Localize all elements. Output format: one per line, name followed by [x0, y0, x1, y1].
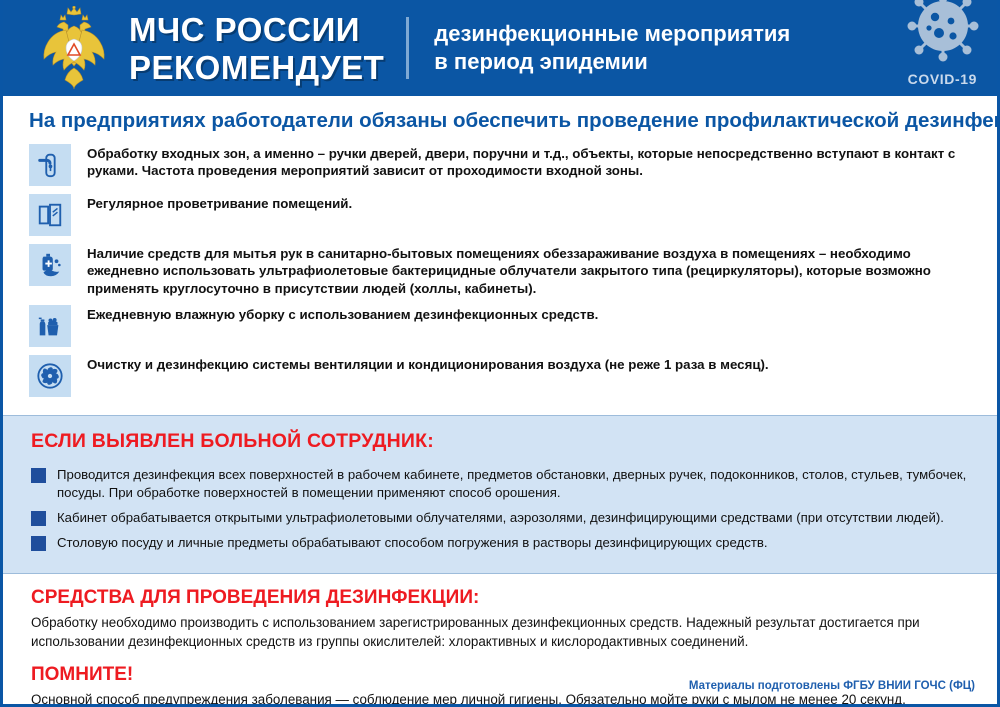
header-subtitle: дезинфекционные мероприятия в период эпи…: [434, 20, 790, 76]
soap-dispenser-hands-icon: [29, 244, 71, 286]
poster-header: МЧС РОССИИ РЕКОМЕНДУЕТ дезинфекционные м…: [3, 0, 997, 96]
list-item: Проводится дезинфекция всех поверхностей…: [31, 466, 975, 502]
section-remember-body: Основной способ предупреждения заболеван…: [31, 690, 973, 707]
brand-line-2: РЕКОМЕНДУЕТ: [129, 51, 384, 84]
section-prevention-title: На предприятиях работодатели обязаны обе…: [29, 110, 975, 133]
section-sick-employee-title: ЕСЛИ ВЫЯВЛЕН БОЛЬНОЙ СОТРУДНИК:: [31, 430, 975, 453]
list-item-text: Регулярное проветривание помещений.: [87, 194, 352, 213]
list-item: Столовую посуду и личные предметы обраба…: [31, 534, 975, 552]
spray-bottle-bucket-icon: [29, 305, 71, 347]
list-item-text: Проводится дезинфекция всех поверхностей…: [57, 466, 975, 502]
open-window-icon: [29, 194, 71, 236]
square-bullet-icon: [31, 511, 46, 526]
section-means: СРЕДСТВА ДЛЯ ПРОВЕДЕНИЯ ДЕЗИНФЕКЦИИ: Обр…: [3, 574, 997, 651]
list-item-text: Очистку и дезинфекцию системы вентиляции…: [87, 355, 769, 374]
poster-root: МЧС РОССИИ РЕКОМЕНДУЕТ дезинфекционные м…: [0, 0, 1000, 707]
brand-line-1: МЧС РОССИИ: [129, 13, 384, 46]
list-item-text: Кабинет обрабатывается открытыми ультраф…: [57, 509, 944, 527]
list-item-text: Столовую посуду и личные предметы обраба…: [57, 534, 768, 552]
subtitle-line-2: в период эпидемии: [434, 48, 790, 76]
footer-credit: Материалы подготовлены ФГБУ ВНИИ ГОЧС (Ф…: [689, 680, 975, 692]
square-bullet-icon: [31, 468, 46, 483]
prevention-item-list: Обработку входных зон, а именно – ручки …: [29, 144, 975, 406]
section-means-title: СРЕДСТВА ДЛЯ ПРОВЕДЕНИЯ ДЕЗИНФЕКЦИИ:: [31, 587, 973, 609]
subtitle-line-1: дезинфекционные мероприятия: [434, 20, 790, 48]
list-item-text: Обработку входных зон, а именно – ручки …: [87, 144, 975, 180]
list-item: Наличие средств для мытья рук в санитарн…: [29, 244, 975, 298]
brand-title: МЧС РОССИИ РЕКОМЕНДУЕТ: [129, 13, 384, 84]
coronavirus-icon: [893, 0, 989, 70]
list-item-text: Ежедневную влажную уборку с использовани…: [87, 305, 598, 324]
section-prevention: На предприятиях работодатели обязаны обе…: [3, 96, 997, 405]
list-item-text: Наличие средств для мытья рук в санитарн…: [87, 244, 975, 298]
ventilation-fan-icon: [29, 355, 71, 397]
mchs-double-headed-eagle-emblem: [37, 6, 111, 90]
list-item: Очистку и дезинфекцию системы вентиляции…: [29, 355, 975, 397]
list-item: Кабинет обрабатывается открытыми ультраф…: [31, 509, 975, 527]
header-divider: [406, 17, 409, 79]
list-item: Ежедневную влажную уборку с использовани…: [29, 305, 975, 347]
section-means-body: Обработку необходимо производить с испол…: [31, 613, 973, 651]
square-bullet-icon: [31, 536, 46, 551]
covid-label: COVID-19: [908, 71, 977, 87]
list-item: Обработку входных зон, а именно – ручки …: [29, 144, 975, 186]
section-sick-employee: ЕСЛИ ВЫЯВЛЕН БОЛЬНОЙ СОТРУДНИК: Проводит…: [3, 415, 997, 574]
list-item: Регулярное проветривание помещений.: [29, 194, 975, 236]
door-handle-icon: [29, 144, 71, 186]
